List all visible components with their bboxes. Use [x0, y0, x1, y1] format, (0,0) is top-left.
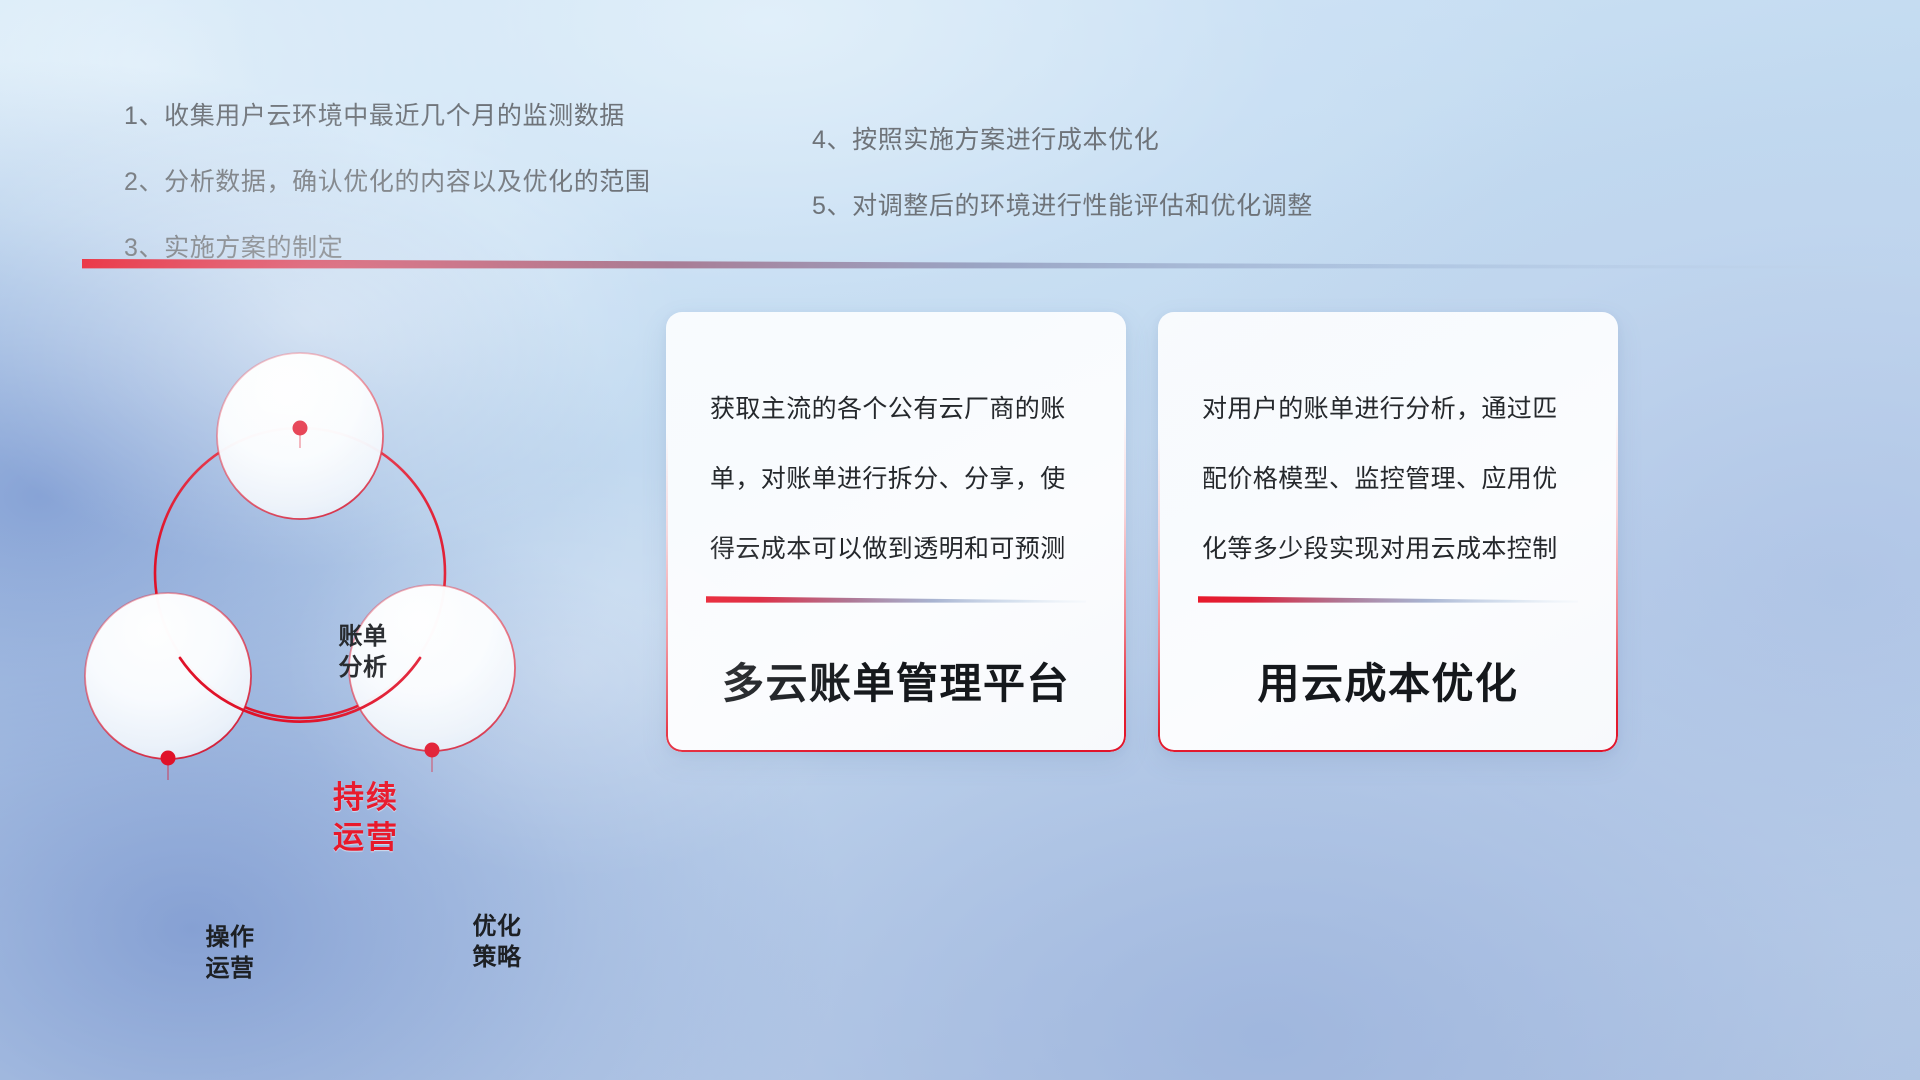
card-1-body: 获取主流的各个公有云厂商的账 单，对账单进行拆分、分享，使 得云成本可以做到透明…	[710, 374, 1086, 584]
card-2-body: 对用户的账单进行分析，通过匹 配价格模型、监控管理、应用优 化等多少段实现对用云…	[1202, 374, 1578, 584]
cycle-marker-optimize	[425, 743, 440, 773]
process-step-4: 4、按照实施方案进行成本优化	[812, 128, 1313, 153]
continuous-operation-diagram: 账单 分析 操作 运营 优化 策略 持续 运营	[60, 288, 580, 788]
card-2-body-line-1: 对用户的账单进行分析，通过匹	[1202, 374, 1578, 444]
bubble-optimize-policy[interactable]	[349, 585, 515, 751]
cycle-marker-operation	[161, 751, 176, 781]
card-2-divider	[1198, 594, 1578, 606]
process-step-2: 2、分析数据，确认优化的内容以及优化的范围	[124, 170, 651, 195]
feature-card-cloud-cost-optimization[interactable]: 对用户的账单进行分析，通过匹 配价格模型、监控管理、应用优 化等多少段实现对用云…	[1158, 312, 1618, 752]
process-step-3: 3、实施方案的制定	[124, 236, 651, 261]
card-2-title: 用云成本优化	[1158, 650, 1618, 711]
cycle-diagram-svg	[60, 288, 580, 788]
slide-canvas: 1、收集用户云环境中最近几个月的监测数据 2、分析数据，确认优化的内容以及优化的…	[0, 0, 1920, 1080]
bubble-label-optimize-policy: 优化 策略	[432, 911, 562, 973]
cycle-center-label: 持续 运营	[292, 778, 440, 859]
process-steps-right: 4、按照实施方案进行成本优化 5、对调整后的环境进行性能评估和优化调整	[812, 128, 1313, 219]
process-step-1: 1、收集用户云环境中最近几个月的监测数据	[124, 104, 651, 129]
card-2-body-line-2: 配价格模型、监控管理、应用优	[1202, 444, 1578, 514]
card-1-title: 多云账单管理平台	[666, 650, 1126, 711]
card-1-body-line-1: 获取主流的各个公有云厂商的账	[710, 374, 1086, 444]
bubble-label-operation: 操作 运营	[165, 922, 295, 984]
process-step-5: 5、对调整后的环境进行性能评估和优化调整	[812, 194, 1313, 219]
feature-card-multi-cloud-billing-platform[interactable]: 获取主流的各个公有云厂商的账 单，对账单进行拆分、分享，使 得云成本可以做到透明…	[666, 312, 1126, 752]
card-2-body-line-3: 化等多少段实现对用云成本控制	[1202, 514, 1578, 584]
card-1-body-line-2: 单，对账单进行拆分、分享，使	[710, 444, 1086, 514]
card-1-divider	[706, 594, 1086, 606]
bubble-operation[interactable]	[85, 593, 251, 759]
card-1-body-line-3: 得云成本可以做到透明和可预测	[710, 514, 1086, 584]
process-steps-left: 1、收集用户云环境中最近几个月的监测数据 2、分析数据，确认优化的内容以及优化的…	[124, 104, 651, 261]
